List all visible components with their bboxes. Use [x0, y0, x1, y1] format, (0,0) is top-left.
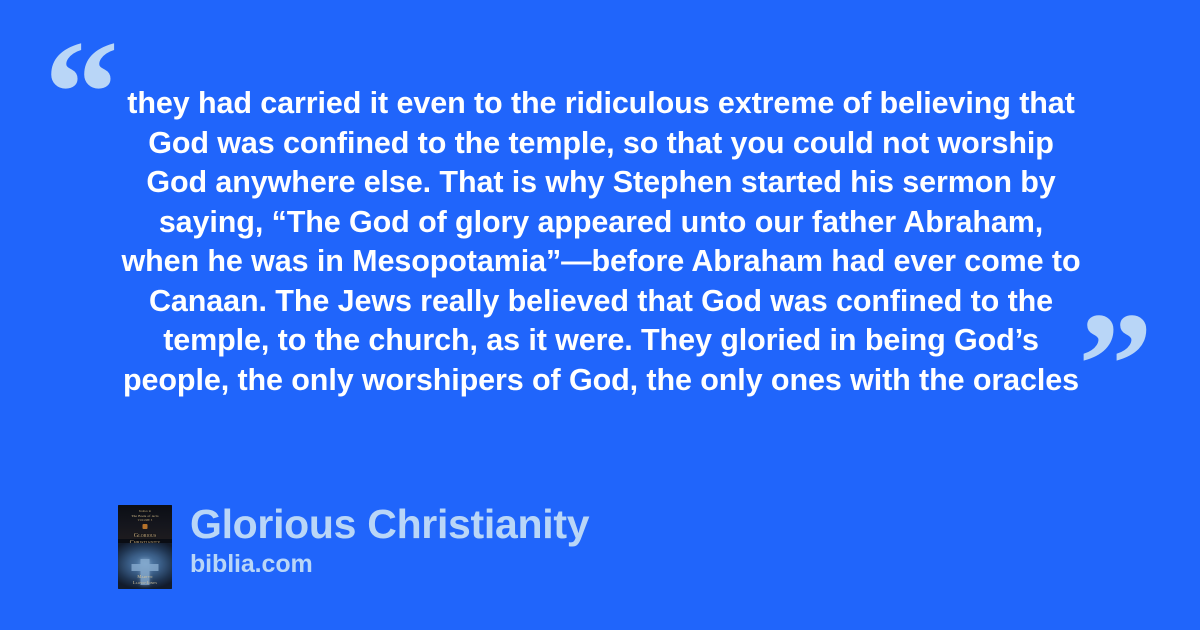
book-title: Glorious Christianity: [190, 501, 589, 547]
book-cover-author: Martyn Lloyd-Jones: [118, 574, 172, 585]
open-quote-icon: “: [44, 18, 116, 168]
book-cover-artwork: Martyn Lloyd-Jones: [118, 543, 172, 589]
book-cover-series-text: Studies in The Book of Acts VOLUME 3: [118, 510, 172, 523]
quote-card: “ they had carried it even to the ridicu…: [0, 0, 1200, 630]
footer-text-block: Glorious Christianity biblia.com: [190, 505, 589, 579]
quote-text: they had carried it even to the ridiculo…: [120, 84, 1082, 400]
book-cover-series-line-3: VOLUME 3: [118, 519, 172, 523]
footer: Studies in The Book of Acts VOLUME 3 Glo…: [118, 505, 589, 589]
book-cover-emblem-icon: [143, 524, 148, 529]
book-cover-thumbnail: Studies in The Book of Acts VOLUME 3 Glo…: [118, 505, 172, 589]
close-quote-icon: ”: [1078, 290, 1150, 440]
site-url[interactable]: biblia.com: [190, 549, 589, 579]
book-cover-author-line-2: Lloyd-Jones: [118, 580, 172, 585]
quote-text-content: they had carried it even to the ridiculo…: [121, 86, 1080, 397]
